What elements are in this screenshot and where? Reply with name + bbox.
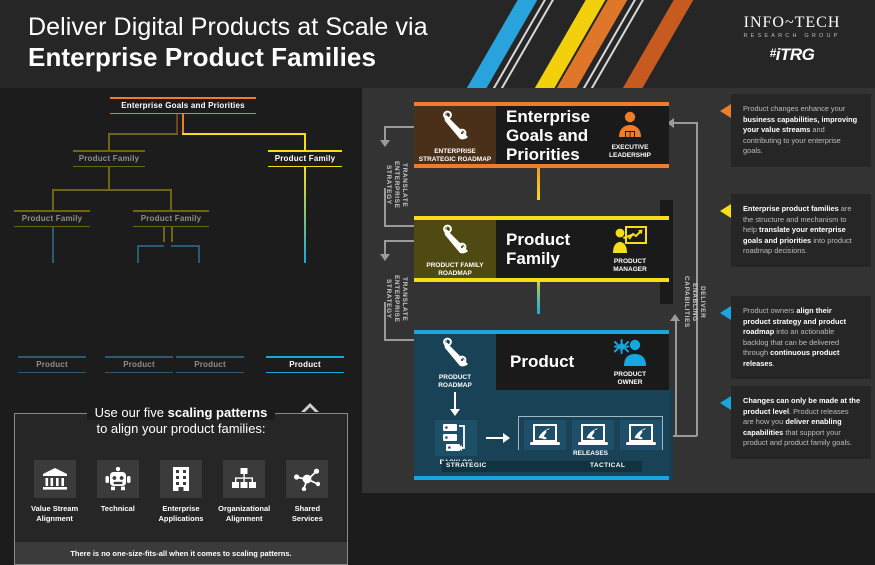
release-item-1[interactable] bbox=[524, 420, 566, 452]
tree-line-f3-stem-a bbox=[163, 227, 165, 242]
product-roadmap-label: PRODUCTROADMAP bbox=[438, 374, 472, 390]
tree-node-family-3[interactable]: Product Family bbox=[133, 210, 209, 227]
tree-line-f2-to-product bbox=[52, 227, 54, 263]
tree-node-family-4[interactable]: Product Family bbox=[268, 150, 342, 167]
scaling-patterns-card: Use our five scaling patterns to align y… bbox=[14, 413, 348, 565]
axis-right-label: TACTICAL bbox=[590, 462, 625, 469]
tree-line-right-drop bbox=[304, 133, 306, 150]
patterns-footer: There is no one-size-fits-all when it co… bbox=[15, 542, 347, 564]
node-label: Product Family bbox=[22, 214, 83, 223]
node-label: Product Family bbox=[79, 154, 140, 163]
node-bar-top bbox=[133, 210, 209, 212]
role-label-2: PRODUCTMANAGER bbox=[613, 258, 647, 274]
node-bar-top bbox=[268, 150, 342, 152]
tree-line-left-drop bbox=[108, 133, 110, 150]
deliver-mid-vertical bbox=[675, 321, 677, 436]
node-label: Product bbox=[289, 360, 321, 369]
translate-1-arrowhead-down bbox=[380, 140, 390, 147]
tier-product-bottom-bar bbox=[414, 476, 669, 480]
title-line-2: Enterprise Product Families bbox=[28, 42, 428, 72]
tree-line-f3-split-left bbox=[137, 245, 164, 247]
roadmap-label-1: ENTERPRISESTRATEGIC ROADMAP bbox=[419, 148, 491, 164]
pattern-item-5[interactable]: SharedServices bbox=[277, 460, 337, 524]
product-roadmap-group[interactable]: PRODUCTROADMAP bbox=[414, 334, 496, 390]
patterns-title-bold: scaling patterns bbox=[168, 405, 268, 420]
callout-arrow-1 bbox=[720, 104, 731, 118]
axis-left-label: STRATEGIC bbox=[446, 462, 487, 469]
tier-product-block: PRODUCTROADMAP Product PRODUCTOWNER BACK… bbox=[414, 330, 669, 480]
node-label: Product bbox=[36, 360, 68, 369]
translate-label-2: TRANSLATEENTERPRISESTRATEGY bbox=[384, 264, 408, 334]
product-owner-icon bbox=[613, 338, 647, 368]
product-owner-label: PRODUCTOWNER bbox=[614, 371, 646, 387]
node-bar-top bbox=[18, 356, 86, 358]
logo-itrg: #iTRG bbox=[727, 45, 857, 65]
node-bar-top bbox=[105, 356, 173, 358]
tree-node-product-4[interactable]: Product bbox=[266, 356, 344, 373]
tree-line-root-to-left bbox=[108, 133, 178, 135]
tree-line-f3-drop-left bbox=[137, 245, 139, 263]
company-logo: INFO~TECH RESEARCH GROUP #iTRG bbox=[727, 14, 857, 65]
releases-items bbox=[524, 420, 662, 452]
backlog-arrow-down bbox=[454, 392, 456, 410]
org-chart-icon bbox=[223, 460, 265, 498]
pattern-item-3[interactable]: EnterpriseApplications bbox=[151, 460, 211, 524]
node-bar-bottom bbox=[266, 372, 344, 374]
tree-node-product-1[interactable]: Product bbox=[18, 356, 86, 373]
patterns-title: Use our five scaling patterns bbox=[15, 404, 347, 422]
roadmap-label-2: PRODUCT FAMILYROADMAP bbox=[426, 262, 483, 278]
network-nodes-icon bbox=[286, 460, 328, 498]
tree-line-root-to-right bbox=[182, 133, 305, 135]
node-label: Product Family bbox=[141, 214, 202, 223]
callout-text-1: Product changes enhance your business ca… bbox=[743, 104, 857, 155]
node-bar-top bbox=[176, 356, 244, 358]
node-label: Enterprise Goals and Priorities bbox=[121, 101, 245, 110]
pattern-label: Technical bbox=[88, 504, 148, 514]
role-group-2[interactable]: PRODUCTMANAGER bbox=[599, 220, 661, 278]
logo-tagline: RESEARCH GROUP bbox=[727, 33, 857, 39]
node-bar-top bbox=[266, 356, 344, 358]
roadmap-icon bbox=[435, 334, 475, 371]
deliver-arrowhead-up bbox=[670, 314, 680, 321]
product-manager-icon bbox=[613, 225, 647, 255]
tree-node-product-2[interactable]: Product bbox=[105, 356, 173, 373]
callout-text-2: Enterprise product families are the stru… bbox=[743, 204, 852, 255]
title-line-1: Deliver Digital Products at Scale via bbox=[28, 12, 428, 42]
callout-2: Enterprise product families are the stru… bbox=[731, 194, 871, 267]
tree-line-f1-left bbox=[52, 189, 54, 211]
node-bar-top bbox=[73, 150, 145, 152]
backlog-group[interactable]: BACKLOG bbox=[434, 420, 478, 467]
tier-1: ENTERPRISESTRATEGIC ROADMAP EnterpriseGo… bbox=[414, 102, 669, 168]
tree-line-f3-stem-b bbox=[171, 227, 173, 242]
translate-2-down-a bbox=[384, 240, 386, 254]
backlog-icon bbox=[435, 420, 477, 456]
tree-line-f3-drop-right bbox=[198, 245, 200, 263]
pattern-label: EnterpriseApplications bbox=[151, 504, 211, 524]
page-title: Deliver Digital Products at Scale via En… bbox=[28, 12, 428, 72]
releases-label: RELEASES bbox=[518, 450, 663, 457]
left-panel: Enterprise Goals and PrioritiesProduct F… bbox=[0, 88, 362, 493]
tree-node-family-1[interactable]: Product Family bbox=[73, 150, 145, 167]
backlog-to-releases-head bbox=[503, 433, 510, 443]
tree-line-f1-stem bbox=[108, 167, 110, 190]
release-item-2[interactable] bbox=[572, 420, 614, 452]
patterns-subtitle: to align your product families: bbox=[15, 421, 347, 436]
roadmap-group-2[interactable]: PRODUCT FAMILYROADMAP bbox=[414, 220, 496, 278]
callout-1: Product changes enhance your business ca… bbox=[731, 94, 871, 167]
patterns-title-prefix: Use our five bbox=[95, 405, 168, 420]
translate-2-arrowhead-down bbox=[380, 254, 390, 261]
logo-itrg-text: iTRG bbox=[776, 45, 815, 64]
product-owner-group[interactable]: PRODUCTOWNER bbox=[599, 334, 661, 390]
right-panel: TRANSLATEENTERPRISESTRATEGYTRANSLATEENTE… bbox=[362, 88, 875, 493]
patterns-grid: Value StreamAlignment Technical Enterpri… bbox=[23, 460, 339, 524]
tree-line-f1-split bbox=[52, 189, 171, 191]
pattern-label: SharedServices bbox=[277, 504, 337, 524]
tier-title-1: EnterpriseGoals andPriorities bbox=[506, 102, 590, 168]
translate-label-1: TRANSLATEENTERPRISESTRATEGY bbox=[384, 150, 408, 220]
callout-arrow-2 bbox=[720, 204, 731, 218]
node-bar-top bbox=[14, 210, 90, 212]
logo-wordmark: INFO~TECH bbox=[727, 14, 857, 32]
node-bar-top bbox=[110, 97, 256, 99]
callout-3: Product owners align their product strat… bbox=[731, 296, 871, 379]
tree-line-f4-to-product bbox=[304, 167, 306, 263]
node-label: Product bbox=[123, 360, 155, 369]
tier-product-title: Product bbox=[510, 334, 574, 390]
roadmap-group-1[interactable]: ENTERPRISESTRATEGIC ROADMAP bbox=[414, 106, 496, 164]
callout-text-3: Product owners align their product strat… bbox=[743, 306, 846, 368]
callout-arrow-3 bbox=[720, 306, 731, 320]
infographic-root: Deliver Digital Products at Scale via En… bbox=[0, 0, 875, 493]
tier-2: PRODUCT FAMILYROADMAP ProductFamily PROD… bbox=[414, 216, 669, 282]
pattern-item-4[interactable]: OrganizationalAlignment bbox=[214, 460, 274, 524]
building-icon bbox=[160, 460, 202, 498]
robot-icon bbox=[97, 460, 139, 498]
pattern-label: OrganizationalAlignment bbox=[214, 504, 274, 524]
tier-title-2: ProductFamily bbox=[506, 216, 570, 282]
release-item-3[interactable] bbox=[620, 420, 662, 452]
pattern-label: Value StreamAlignment bbox=[25, 504, 85, 524]
tree-node-family-2[interactable]: Product Family bbox=[14, 210, 90, 227]
tree-line-f3-split-right bbox=[171, 245, 199, 247]
roadmap-icon bbox=[435, 106, 475, 145]
deliver-label: DELIVERENABLINGCAPABILITIES bbox=[682, 263, 706, 341]
backlog-arrow-head bbox=[450, 409, 460, 416]
node-label: Product bbox=[194, 360, 226, 369]
tree-line-f1-right bbox=[170, 189, 172, 211]
tree-line-root-right-stem bbox=[182, 114, 184, 134]
deliver-to-enterprise bbox=[673, 122, 697, 124]
executive-leadership-icon bbox=[615, 111, 645, 141]
tree-node-root[interactable]: Enterprise Goals and Priorities bbox=[110, 97, 256, 114]
roadmap-icon bbox=[435, 220, 475, 259]
decorative-stripes bbox=[495, 0, 735, 88]
bank-icon bbox=[34, 460, 76, 498]
pattern-item-2[interactable]: Technical bbox=[88, 460, 148, 524]
node-bar-bottom bbox=[176, 372, 244, 374]
callout-4: Changes can only be made at the product … bbox=[731, 386, 871, 459]
backlog-to-releases-arrow bbox=[486, 437, 504, 439]
header: Deliver Digital Products at Scale via En… bbox=[0, 0, 875, 88]
callout-arrow-4 bbox=[720, 396, 731, 410]
node-bar-bottom bbox=[105, 372, 173, 374]
tree-node-product-3[interactable]: Product bbox=[176, 356, 244, 373]
node-label: Product Family bbox=[275, 154, 336, 163]
tree-line-root-left-stem bbox=[176, 114, 178, 134]
role-label-1: EXECUTIVELEADERSHIP bbox=[609, 144, 651, 160]
pattern-item-1[interactable]: Value StreamAlignment bbox=[25, 460, 85, 524]
node-bar-bottom bbox=[18, 372, 86, 374]
translate-1-down-a bbox=[384, 126, 386, 140]
callout-text-4: Changes can only be made at the product … bbox=[743, 396, 860, 447]
role-group-1[interactable]: EXECUTIVELEADERSHIP bbox=[599, 106, 661, 164]
